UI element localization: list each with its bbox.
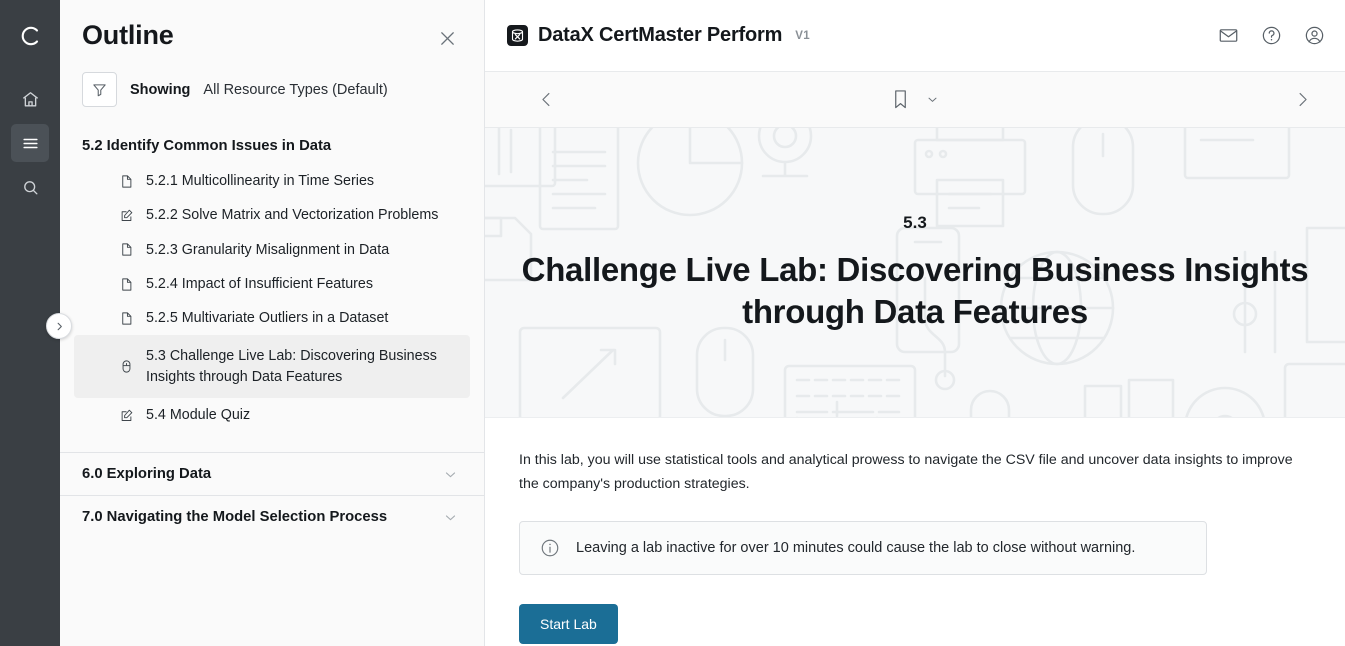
main-content: DataX CertMaster Perform V1 [485,0,1345,646]
filter-icon[interactable] [82,72,117,107]
help-circle-icon[interactable] [1261,25,1282,46]
outline-item-label: 5.2.5 Multivariate Outliers in a Dataset [146,308,388,328]
chevron-down-icon [443,467,458,482]
outline-section-6-0[interactable]: 6.0 Exploring Data [60,452,484,495]
chevron-left-icon[interactable] [537,90,556,109]
info-circle-icon [540,538,560,558]
brand: DataX CertMaster Perform V1 [507,24,810,47]
outline-item-5-2-3[interactable]: 5.2.3 Granularity Misalignment in Data [74,233,470,267]
clipped-chevron-icon [442,130,454,135]
search-icon[interactable] [11,168,49,206]
datax-logo-icon [507,25,528,46]
outline-section-header[interactable]: 5.2 Identify Common Issues in Data [60,128,484,164]
bookmark-icon[interactable] [891,88,910,111]
app-title: DataX CertMaster Perform [538,24,782,47]
outline-item-label: 5.2.2 Solve Matrix and Vectorization Pro… [146,205,438,225]
sidebar-collapse-button[interactable] [46,313,72,339]
outline-item-label: 5.4 Module Quiz [146,405,250,425]
chevron-down-icon [443,510,458,525]
page-title: Outline [82,20,174,51]
content-navbar [485,72,1345,128]
outline-section-7-0[interactable]: 7.0 Navigating the Model Selection Proce… [60,495,484,538]
outline-item-5-2-4[interactable]: 5.2.4 Impact of Insufficient Features [74,267,470,301]
start-lab-button[interactable]: Start Lab [519,604,618,644]
hero-banner: 5.3 Challenge Live Lab: Discovering Busi… [485,128,1345,418]
outline-item-label: 5.2.4 Impact of Insufficient Features [146,274,373,294]
section-label: 7.0 Navigating the Model Selection Proce… [82,509,387,525]
bookmark-group [891,88,939,111]
outline-item-5-4[interactable]: 5.4 Module Quiz [74,398,470,432]
outline-item-5-2-5[interactable]: 5.2.5 Multivariate Outliers in a Dataset [74,301,470,335]
document-icon [119,174,135,189]
document-icon [119,311,135,326]
outline-header: Outline [60,0,484,64]
section-label: 6.0 Exploring Data [82,466,211,482]
alert-text: Leaving a lab inactive for over 10 minut… [576,540,1135,556]
hero-title: Challenge Live Lab: Discovering Business… [510,249,1320,332]
mouse-lab-icon [119,359,135,374]
lab-body: In this lab, you will use statistical to… [485,418,1345,644]
outline-item-5-2-1[interactable]: 5.2.1 Multicollinearity in Time Series [74,164,470,198]
app-window: Outline Showing All Resource Types (Defa… [0,0,1345,646]
inactivity-alert: Leaving a lab inactive for over 10 minut… [519,521,1207,575]
app-header: DataX CertMaster Perform V1 [485,0,1345,72]
edit-icon [119,408,135,423]
header-actions [1218,25,1325,46]
menu-icon[interactable] [11,124,49,162]
version-badge: V1 [795,30,810,42]
c-logo-icon[interactable] [10,16,50,56]
account-circle-icon[interactable] [1304,25,1325,46]
home-icon[interactable] [11,80,49,118]
chevron-right-icon[interactable] [1293,90,1312,109]
document-icon [119,242,135,257]
filter-row: Showing All Resource Types (Default) [60,64,484,117]
mail-icon[interactable] [1218,25,1239,46]
lab-intro-text: In this lab, you will use statistical to… [519,448,1309,497]
edit-icon [119,208,135,223]
outline-item-label: 5.2.3 Granularity Misalignment in Data [146,240,389,260]
outline-item-label: 5.3 Challenge Live Lab: Discovering Busi… [146,346,444,387]
hero-number: 5.3 [903,213,927,233]
outline-scrollbar[interactable] [471,253,479,646]
close-icon[interactable] [433,24,462,58]
outline-item-5-2-2[interactable]: 5.2.2 Solve Matrix and Vectorization Pro… [74,198,470,232]
filter-value[interactable]: All Resource Types (Default) [203,82,387,98]
outline-item-5-3[interactable]: 5.3 Challenge Live Lab: Discovering Busi… [74,335,470,398]
outline-scroll-area: 5.2 Identify Common Issues in Data 5.2.1… [60,128,484,646]
outline-panel: Outline Showing All Resource Types (Defa… [60,0,485,646]
outline-item-label: 5.2.1 Multicollinearity in Time Series [146,171,374,191]
chevron-down-icon[interactable] [926,93,939,106]
filter-showing-label: Showing [130,82,190,98]
document-icon [119,277,135,292]
